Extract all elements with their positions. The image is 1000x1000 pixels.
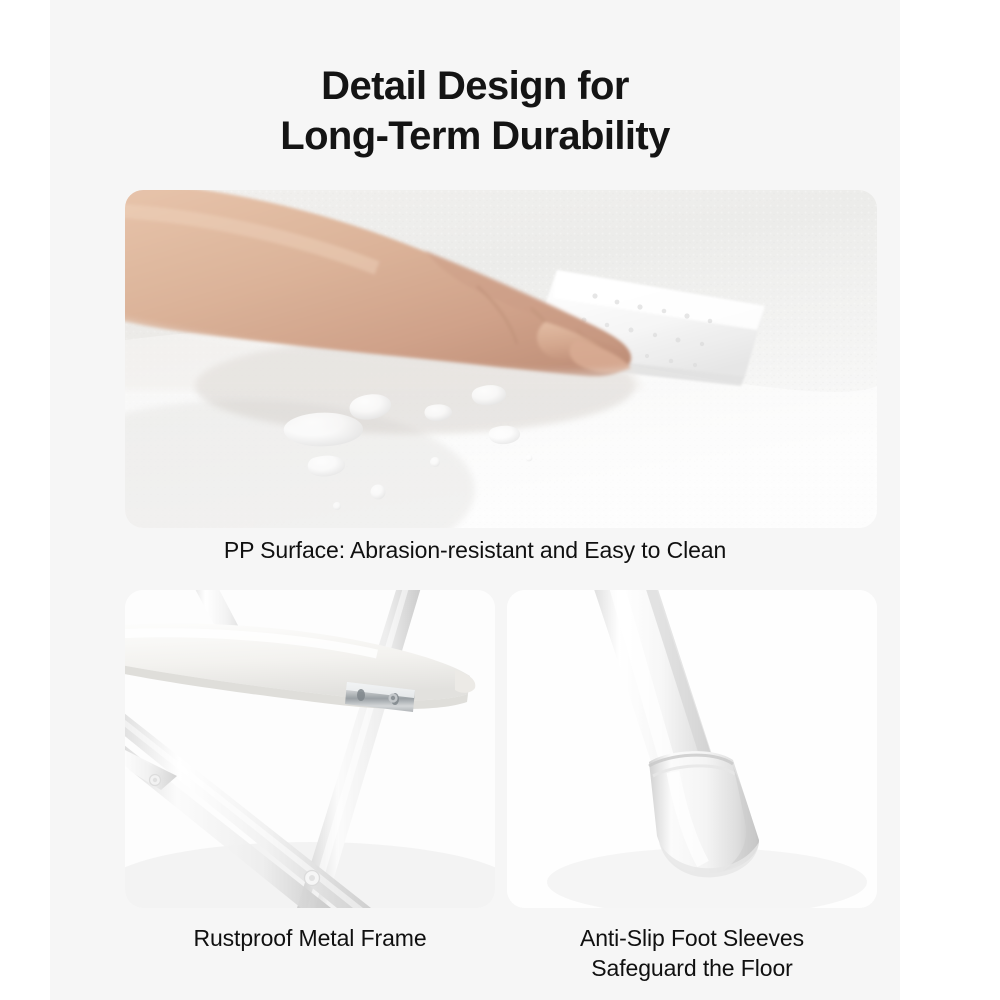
feature-card-pp-surface: [125, 190, 877, 528]
chair-leg-foot-sleeve-illustration: [507, 590, 877, 908]
product-feature-infographic: Detail Design for Long-Term Durability: [0, 0, 1000, 1000]
photo-hand-wiping-surface: [125, 190, 877, 528]
page-title: Detail Design for Long-Term Durability: [50, 62, 900, 161]
page-title-line-1: Detail Design for: [50, 62, 900, 112]
page-title-line-2: Long-Term Durability: [50, 112, 900, 162]
feature-card-metal-frame: [125, 590, 495, 908]
caption-pp-surface: PP Surface: Abrasion-resistant and Easy …: [50, 535, 900, 565]
caption-metal-frame-text: Rustproof Metal Frame: [125, 923, 495, 953]
hand-wiping-surface-illustration: [125, 190, 877, 528]
photo-anti-slip-foot-sleeve: [507, 590, 877, 908]
folding-chair-frame-illustration: [125, 590, 495, 908]
caption-foot-sleeve-line-2: Safeguard the Floor: [507, 953, 877, 983]
caption-foot-sleeve: Anti-Slip Foot Sleeves Safeguard the Flo…: [507, 923, 877, 984]
caption-pp-surface-text: PP Surface: Abrasion-resistant and Easy …: [50, 535, 900, 565]
photo-chair-metal-frame: [125, 590, 495, 908]
caption-metal-frame: Rustproof Metal Frame: [125, 923, 495, 953]
caption-foot-sleeve-line-1: Anti-Slip Foot Sleeves: [507, 923, 877, 953]
feature-card-foot-sleeve: [507, 590, 877, 908]
